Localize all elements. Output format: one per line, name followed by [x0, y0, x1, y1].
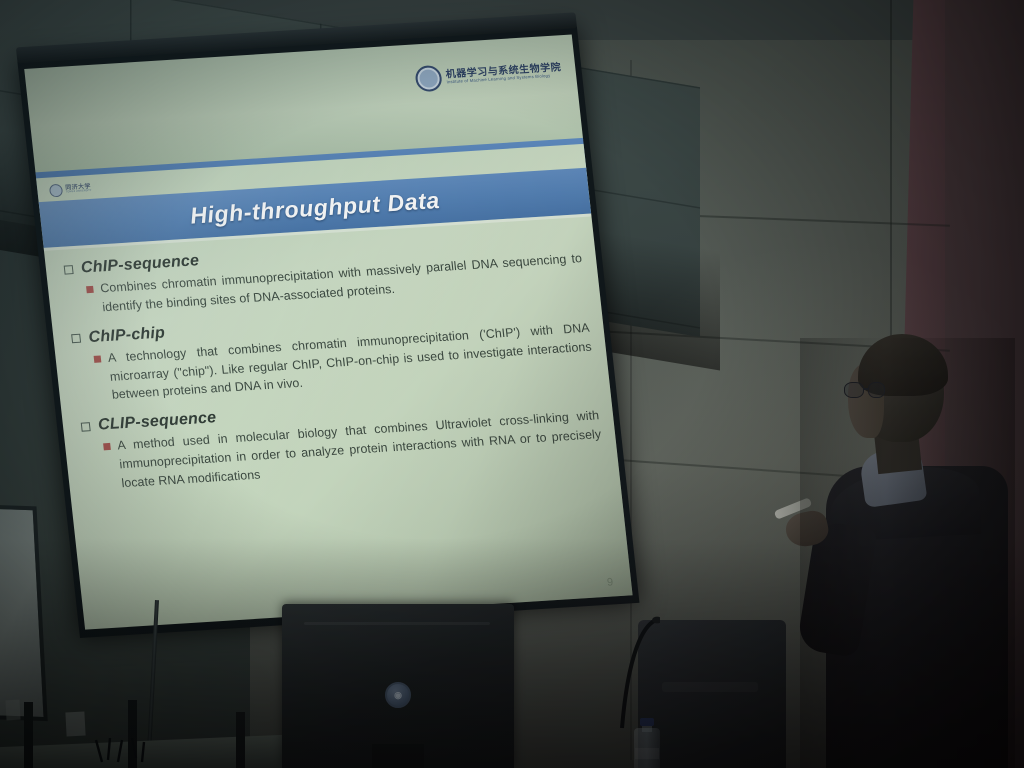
- university-seal-icon: [49, 184, 63, 198]
- university-name-en: TONGJI UNIVERSITY: [66, 190, 92, 194]
- hollow-square-bullet-icon: [64, 265, 74, 275]
- desk-leg: [24, 702, 33, 768]
- hollow-square-bullet-icon: [71, 334, 81, 344]
- desk-leg: [236, 712, 245, 768]
- monitor-stand: [372, 744, 424, 768]
- water-bottle: [634, 718, 660, 768]
- presenter: [800, 338, 1015, 768]
- filled-square-bullet-icon: [86, 286, 94, 293]
- filled-square-bullet-icon: [103, 443, 111, 450]
- bottle-label: [635, 748, 659, 759]
- projection-screen: 机器学习与系统生物学院 Institute of Machine Learnin…: [17, 26, 639, 638]
- glasses-lens: [868, 382, 885, 398]
- section-heading: ChIP-chip: [88, 324, 166, 347]
- paper-sheet: [65, 712, 85, 737]
- slide-university-logo: 同济大学 TONGJI UNIVERSITY: [49, 182, 92, 198]
- paper-sheet: [5, 700, 20, 721]
- slide-body: ChIP-sequence Combines chromatin immunop…: [63, 228, 616, 602]
- slide-page-number: 9: [606, 576, 613, 588]
- lecture-hall-photo: 机器学习与系统生物学院 Institute of Machine Learnin…: [0, 0, 1024, 768]
- bottle-cap: [640, 718, 654, 726]
- monitor-logo-badge: ◉: [385, 682, 411, 708]
- slide-title: High-throughput Data: [189, 187, 441, 230]
- filled-square-bullet-icon: [94, 355, 102, 362]
- slide: 同济大学 TONGJI UNIVERSITY High-throughput D…: [36, 144, 633, 630]
- monitor-vent: [304, 622, 490, 625]
- institute-logo: 机器学习与系统生物学院 Institute of Machine Learnin…: [414, 57, 563, 92]
- lectern-slot: [662, 682, 758, 692]
- eyeglasses-icon: [844, 382, 892, 400]
- cables-icon: [92, 738, 162, 764]
- glasses-lens: [844, 382, 864, 398]
- hollow-square-bullet-icon: [81, 422, 91, 432]
- lectern: [638, 620, 786, 768]
- university-seal-icon: [414, 65, 443, 92]
- computer-monitor: ◉: [282, 604, 514, 768]
